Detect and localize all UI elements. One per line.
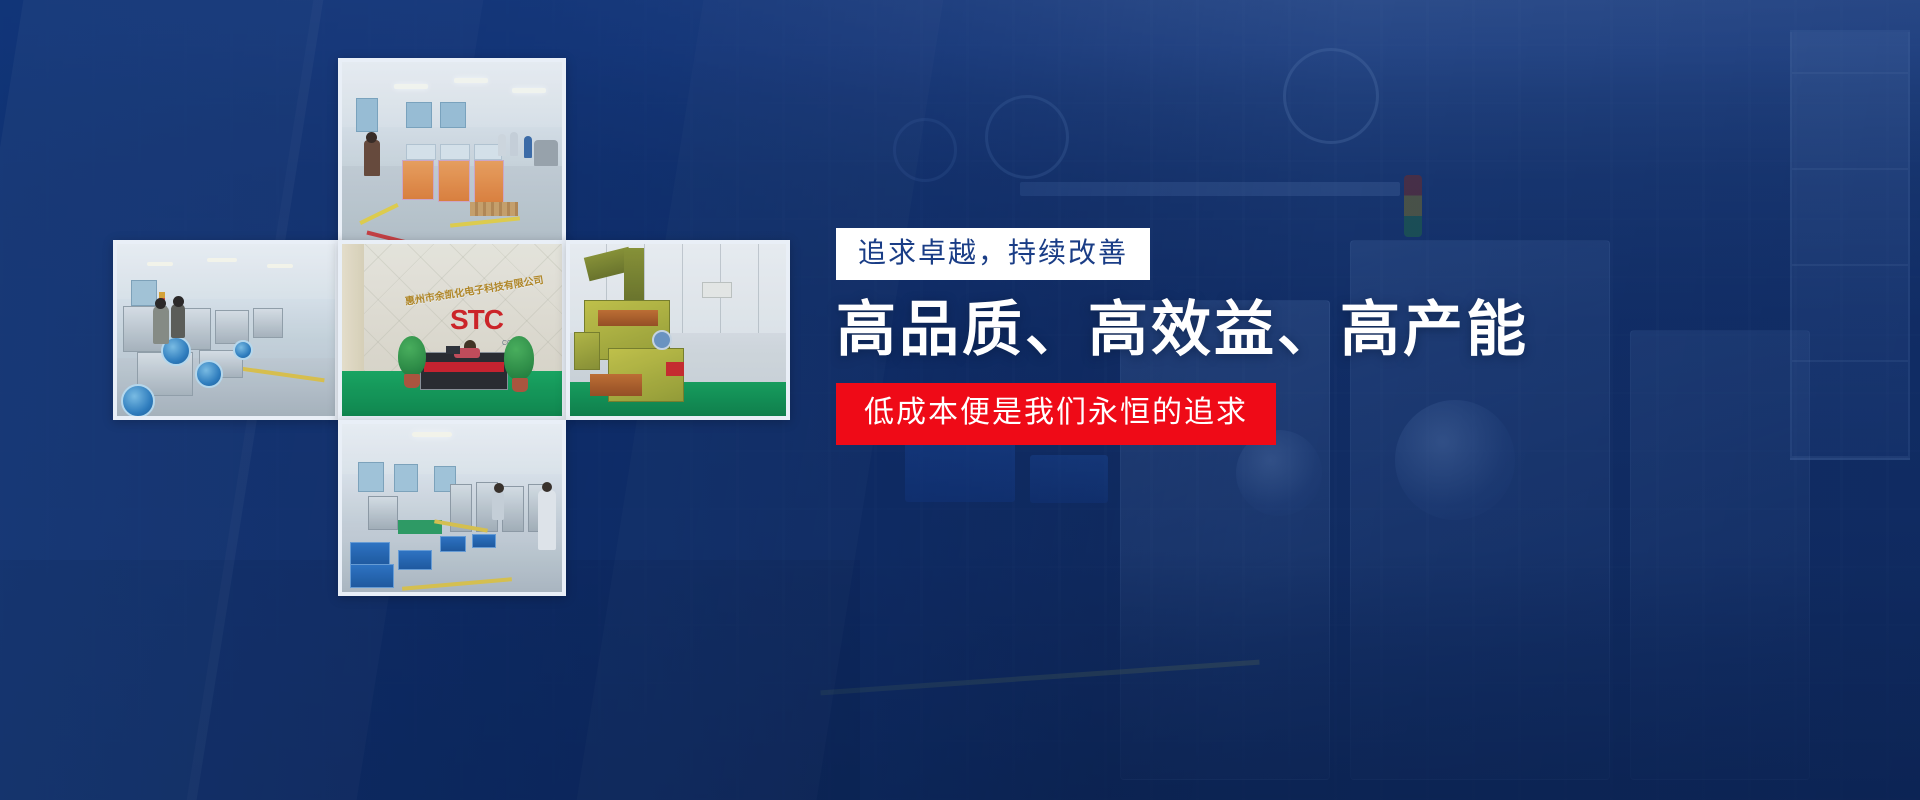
hero-text-block: 追求卓越，持续改善 高品质、高效益、高产能 低成本便是我们永恒的追求 xyxy=(836,228,1536,445)
photo-top xyxy=(338,58,566,258)
photo-bottom xyxy=(338,420,566,596)
photo-right xyxy=(566,240,790,420)
photo-collage: 惠州市余凯化电子科技有限公司 STC CO.,LTD xyxy=(0,0,820,800)
page-title: 高品质、高效益、高产能 xyxy=(836,298,1536,363)
hero-banner: 惠州市余凯化电子科技有限公司 STC CO.,LTD xyxy=(0,0,1920,800)
photo-center: 惠州市余凯化电子科技有限公司 STC CO.,LTD xyxy=(338,240,566,420)
lobby-brand-logo: STC xyxy=(450,304,503,336)
tagline-bottom-badge: 低成本便是我们永恒的追求 xyxy=(836,383,1276,445)
tagline-top: 追求卓越，持续改善 xyxy=(836,228,1150,280)
photo-left xyxy=(113,240,339,420)
